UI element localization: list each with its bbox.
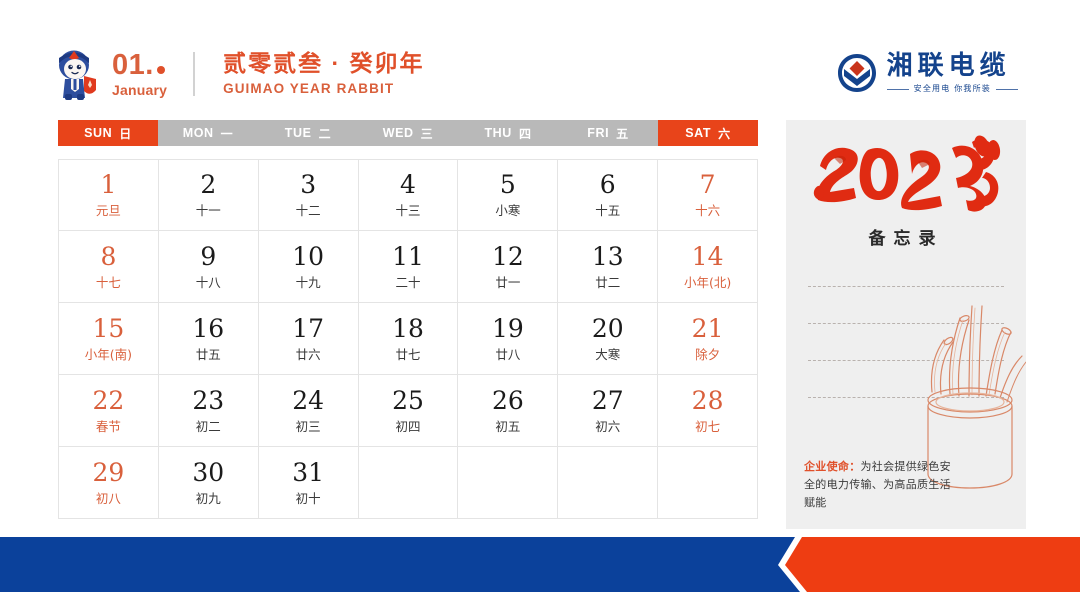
day-lunar-label: 十三	[396, 205, 421, 218]
footer-orange-block	[785, 537, 1080, 592]
day-lunar-label: 初六	[595, 421, 620, 434]
day-number: 5	[500, 172, 516, 197]
tagline-rule-left	[887, 89, 909, 90]
day-lunar-label: 十七	[96, 277, 121, 290]
calendar-day-cell[interactable]: 23初二	[159, 375, 259, 447]
weekday-cn: 二	[319, 125, 332, 142]
day-number: 8	[100, 244, 116, 269]
day-number: 17	[292, 316, 324, 341]
day-number: 30	[192, 460, 224, 485]
day-number: 18	[392, 316, 424, 341]
day-number: 1	[100, 172, 116, 197]
calendar-day-cell[interactable]: 18廿七	[359, 303, 459, 375]
calendar-day-cell[interactable]: 9十八	[159, 231, 259, 303]
mission-statement: 企业使命：为社会提供绿色安全的电力传输、为高品质生活赋能	[804, 458, 962, 511]
day-number: 14	[692, 244, 724, 269]
day-number: 24	[292, 388, 324, 413]
calendar-week-row: 1元旦2十一3十二4十三5小寒6十五7十六	[58, 159, 758, 231]
footer-bar	[0, 537, 1080, 592]
company-name: 湘联电缆	[887, 53, 1018, 79]
weekday-cn: 六	[718, 125, 731, 142]
weekday-en: THU	[484, 126, 512, 140]
memo-panel: 备忘录	[786, 120, 1026, 529]
calendar-day-cell[interactable]: 3十二	[259, 159, 359, 231]
logo-tagline-row: 安全用电 你我所装	[887, 85, 1018, 93]
mascot-shield-icon	[52, 48, 98, 100]
weekday-header-thu: THU四	[458, 120, 558, 146]
day-number: 4	[400, 172, 416, 197]
day-number: 7	[700, 172, 716, 197]
day-number: 12	[492, 244, 524, 269]
header-divider	[193, 52, 195, 96]
day-lunar-label: 初四	[396, 421, 421, 434]
calendar-cell-empty	[359, 447, 459, 519]
day-number: 22	[93, 388, 125, 413]
calendar-day-cell[interactable]: 2十一	[159, 159, 259, 231]
day-lunar-label: 初五	[495, 421, 520, 434]
day-lunar-label: 小寒	[495, 205, 520, 218]
calendar-day-cell[interactable]: 28初七	[658, 375, 758, 447]
calendar-day-cell[interactable]: 5小寒	[458, 159, 558, 231]
calendar-day-cell[interactable]: 31初十	[259, 447, 359, 519]
day-lunar-label: 元旦	[96, 205, 121, 218]
day-number: 3	[300, 172, 316, 197]
footer-blue-block	[0, 537, 800, 592]
weekday-header-sun: SUN日	[58, 120, 158, 146]
company-logo: 湘联电缆 安全用电 你我所装	[836, 52, 1018, 94]
calendar-cell-empty	[558, 447, 658, 519]
day-number: 23	[192, 388, 224, 413]
weekday-header-sat: SAT六	[658, 120, 758, 146]
day-lunar-label: 十二	[296, 205, 321, 218]
weekday-en: SUN	[84, 126, 112, 140]
title-block: 贰零贰叁 · 癸卯年 GUIMAO YEAR RABBIT	[223, 52, 424, 96]
day-number: 9	[200, 244, 216, 269]
day-lunar-label: 大寒	[595, 349, 620, 362]
day-number: 29	[93, 460, 125, 485]
footer-shape	[0, 537, 1080, 592]
month-block: 01. January	[112, 51, 167, 97]
calendar-day-cell[interactable]: 24初三	[259, 375, 359, 447]
day-lunar-label: 十八	[196, 277, 221, 290]
weekday-en: FRI	[587, 126, 609, 140]
day-lunar-label: 初九	[196, 493, 221, 506]
calendar-day-cell[interactable]: 6十五	[558, 159, 658, 231]
title-english: GUIMAO YEAR RABBIT	[223, 82, 424, 96]
calendar-cell-empty	[458, 447, 558, 519]
calendar-day-cell[interactable]: 13廿二	[558, 231, 658, 303]
calendar-week-row: 8十七9十八10十九11二十12廿一13廿二14小年(北)	[58, 231, 758, 303]
calendar-day-cell[interactable]: 15小年(南)	[58, 303, 159, 375]
calendar-week-row: 22春节23初二24初三25初四26初五27初六28初七	[58, 375, 758, 447]
tagline-rule-right	[996, 89, 1018, 90]
calendar-week-row: 29初八30初九31初十	[58, 447, 758, 519]
day-lunar-label: 小年(南)	[85, 349, 132, 362]
weekday-en: TUE	[285, 126, 312, 140]
page-header: 01. January 贰零贰叁 · 癸卯年 GUIMAO YEAR RABBI…	[0, 0, 1080, 112]
month-number: 01.	[112, 51, 165, 80]
day-number: 27	[592, 388, 624, 413]
day-number: 2	[200, 172, 216, 197]
day-lunar-label: 廿八	[495, 349, 520, 362]
weekday-cn: 三	[421, 125, 434, 142]
day-lunar-label: 初十	[296, 493, 321, 506]
day-number: 16	[192, 316, 224, 341]
weekday-header-fri: FRI五	[558, 120, 658, 146]
day-number: 26	[492, 388, 524, 413]
day-lunar-label: 十九	[296, 277, 321, 290]
day-number: 31	[292, 460, 324, 485]
calendar-day-cell[interactable]: 1元旦	[58, 159, 159, 231]
day-lunar-label: 春节	[96, 421, 121, 434]
calendar-day-cell[interactable]: 27初六	[558, 375, 658, 447]
calendar-day-cell[interactable]: 11二十	[359, 231, 459, 303]
day-number: 6	[600, 172, 616, 197]
calendar-grid: SUN日MON一TUE二WED三THU四FRI五SAT六 1元旦2十一3十二4十…	[58, 120, 758, 519]
weekday-header-mon: MON一	[158, 120, 258, 146]
day-number: 13	[592, 244, 624, 269]
day-number: 10	[292, 244, 324, 269]
xianglian-logo-icon	[836, 52, 878, 94]
weekday-header-tue: TUE二	[258, 120, 358, 146]
calendar-day-cell[interactable]: 30初九	[159, 447, 259, 519]
weekday-cn: 四	[519, 125, 532, 142]
day-number: 28	[692, 388, 724, 413]
day-number: 11	[392, 244, 424, 269]
title-chinese: 贰零贰叁 · 癸卯年	[223, 52, 424, 75]
day-lunar-label: 廿五	[196, 349, 221, 362]
calendar-day-cell[interactable]: 7十六	[658, 159, 758, 231]
day-lunar-label: 廿六	[296, 349, 321, 362]
day-lunar-label: 初二	[196, 421, 221, 434]
weekday-en: SAT	[685, 126, 711, 140]
calendar-day-cell[interactable]: 26初五	[458, 375, 558, 447]
day-number: 21	[692, 316, 724, 341]
weekday-en: WED	[383, 126, 414, 140]
weekday-cn: 五	[616, 125, 629, 142]
day-number: 19	[492, 316, 524, 341]
calendar-day-cell[interactable]: 17廿六	[259, 303, 359, 375]
weekday-header-wed: WED三	[358, 120, 458, 146]
day-lunar-label: 初七	[695, 421, 720, 434]
day-lunar-label: 廿七	[396, 349, 421, 362]
day-lunar-label: 十一	[196, 205, 221, 218]
memo-label: 备忘录	[786, 224, 1026, 249]
day-number: 20	[592, 316, 624, 341]
calendar-day-cell[interactable]: 25初四	[359, 375, 459, 447]
month-number-text: 01.	[112, 51, 154, 80]
calendar-day-cell[interactable]: 16廿五	[159, 303, 259, 375]
calendar-week-row: 15小年(南)16廿五17廿六18廿七19廿八20大寒21除夕	[58, 303, 758, 375]
day-lunar-label: 初八	[96, 493, 121, 506]
calendar-weeks: 1元旦2十一3十二4十三5小寒6十五7十六8十七9十八10十九11二十12廿一1…	[58, 159, 758, 519]
calendar-day-cell[interactable]: 20大寒	[558, 303, 658, 375]
calendar-day-cell[interactable]: 8十七	[58, 231, 159, 303]
day-lunar-label: 二十	[396, 277, 421, 290]
brand-block: 01. January 贰零贰叁 · 癸卯年 GUIMAO YEAR RABBI…	[52, 48, 425, 100]
month-dot-icon	[157, 66, 165, 74]
day-lunar-label: 十五	[595, 205, 620, 218]
day-lunar-label: 小年(北)	[684, 277, 731, 290]
calendar-day-cell[interactable]: 14小年(北)	[658, 231, 758, 303]
memo-line	[808, 286, 1004, 287]
calendar-day-cell[interactable]: 22春节	[58, 375, 159, 447]
calendar-day-cell[interactable]: 19廿八	[458, 303, 558, 375]
calendar-day-cell[interactable]: 29初八	[58, 447, 159, 519]
rabbit-calligraphy-icon	[810, 130, 1002, 215]
calendar-day-cell[interactable]: 21除夕	[658, 303, 758, 375]
day-lunar-label: 初三	[296, 421, 321, 434]
day-number: 15	[93, 316, 125, 341]
calendar-day-cell[interactable]: 4十三	[359, 159, 459, 231]
day-lunar-label: 廿二	[595, 277, 620, 290]
month-name: January	[112, 83, 167, 97]
company-tagline: 安全用电 你我所装	[914, 85, 991, 93]
weekday-cn: 日	[119, 125, 132, 142]
day-number: 25	[392, 388, 424, 413]
weekday-header-row: SUN日MON一TUE二WED三THU四FRI五SAT六	[58, 120, 758, 146]
day-lunar-label: 十六	[695, 205, 720, 218]
weekday-cn: 一	[221, 125, 234, 142]
weekday-en: MON	[183, 126, 214, 140]
day-lunar-label: 除夕	[695, 349, 720, 362]
calendar-cell-empty	[658, 447, 758, 519]
logo-text-wrap: 湘联电缆 安全用电 你我所装	[887, 53, 1018, 93]
day-lunar-label: 廿一	[495, 277, 520, 290]
calendar-day-cell[interactable]: 10十九	[259, 231, 359, 303]
mission-label: 企业使命：	[804, 460, 861, 473]
calendar-day-cell[interactable]: 12廿一	[458, 231, 558, 303]
